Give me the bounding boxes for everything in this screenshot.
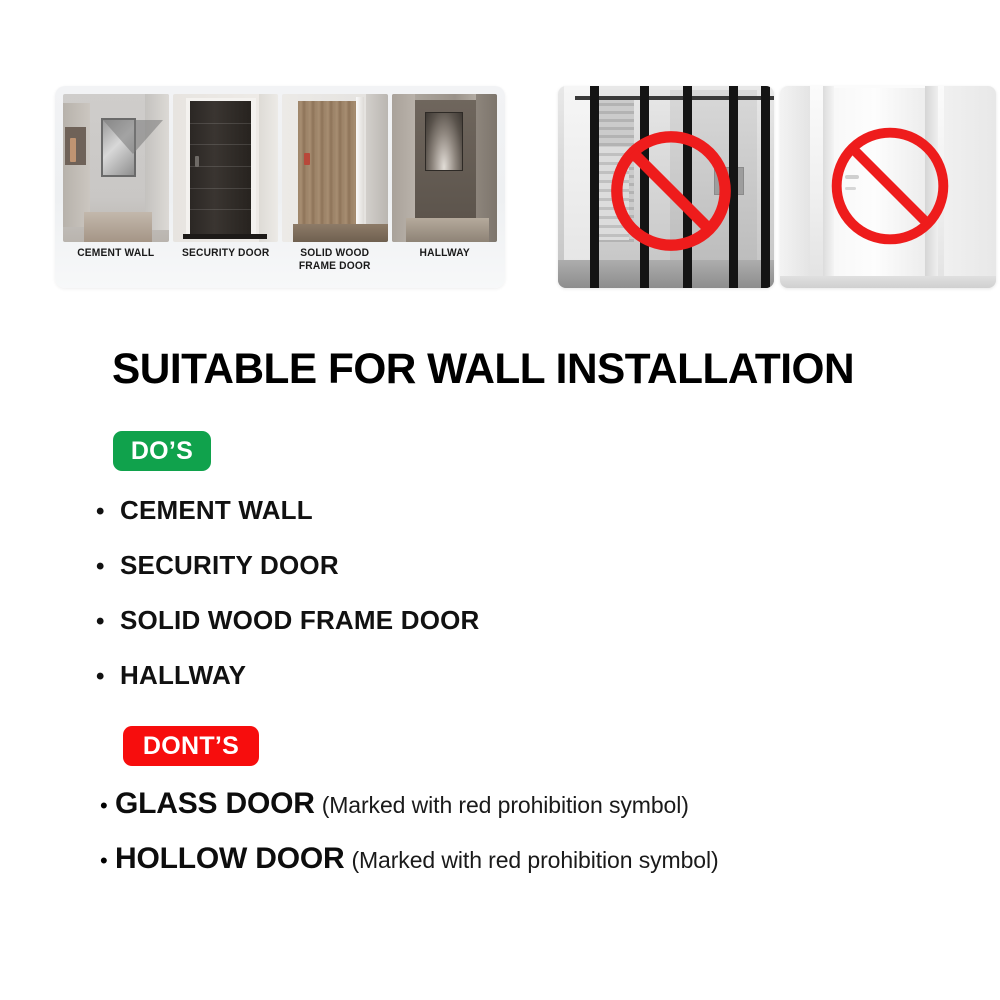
donts-badge: DONT’S bbox=[123, 726, 259, 766]
door-jamb-shape bbox=[356, 97, 364, 236]
vase-shape bbox=[70, 138, 75, 162]
dark-door-shape bbox=[190, 101, 250, 236]
bullet-icon: • bbox=[100, 790, 115, 822]
right-wall-shape bbox=[145, 94, 168, 230]
glass-door-dont-card bbox=[558, 86, 774, 288]
caption-line-2: FRAME DOOR bbox=[286, 260, 384, 273]
bullet-icon: • bbox=[96, 664, 120, 690]
list-item: •SECURITY DOOR bbox=[96, 550, 716, 581]
dos-item-label: CEMENT WALL bbox=[120, 495, 313, 525]
floor-shape bbox=[780, 276, 996, 288]
dos-item-label: SECURITY DOOR bbox=[120, 550, 339, 580]
caption-solid-wood-frame-door: SOLID WOOD FRAME DOOR bbox=[286, 246, 384, 286]
prohibition-symbol-icon bbox=[828, 124, 952, 248]
cement-wall-photo bbox=[63, 94, 169, 242]
dos-item-label: SOLID WOOD FRAME DOOR bbox=[120, 605, 480, 635]
left-wall-shape bbox=[780, 86, 810, 288]
list-item: •SOLID WOOD FRAME DOOR bbox=[96, 605, 716, 636]
hallway-photo bbox=[392, 94, 498, 242]
bullet-icon: • bbox=[96, 499, 120, 525]
caption-cement-wall: CEMENT WALL bbox=[67, 246, 165, 286]
dont-item-label: HOLLOW DOOR bbox=[115, 842, 344, 875]
product-compatibility-gallery: CEMENT WALL SECURITY DOOR SOLID WOOD FRA… bbox=[55, 86, 941, 288]
niche-shape bbox=[65, 127, 86, 165]
dos-caption-row: CEMENT WALL SECURITY DOOR SOLID WOOD FRA… bbox=[63, 246, 497, 286]
floor-shape bbox=[84, 212, 152, 242]
top-rail-shape bbox=[575, 96, 774, 100]
arch-artwork-shape bbox=[425, 112, 463, 171]
dos-thumbnail-row bbox=[63, 94, 497, 242]
dos-list: •CEMENT WALL •SECURITY DOOR •SOLID WOOD … bbox=[96, 495, 716, 715]
dont-item-note: (Marked with red prohibition symbol) bbox=[322, 792, 689, 818]
list-item: •GLASS DOOR(Marked with red prohibition … bbox=[100, 788, 930, 825]
caption-security-door: SECURITY DOOR bbox=[176, 246, 274, 286]
caption-line-1: SOLID WOOD bbox=[286, 247, 384, 260]
right-wall-shape bbox=[366, 94, 387, 242]
bullet-icon: • bbox=[96, 609, 120, 635]
list-item: •CEMENT WALL bbox=[96, 495, 716, 526]
wood-door-shape bbox=[298, 101, 356, 233]
page-title: SUITABLE FOR WALL INSTALLATION bbox=[112, 344, 920, 394]
framed-artwork-shape bbox=[101, 118, 136, 177]
donts-list: •GLASS DOOR(Marked with red prohibition … bbox=[100, 788, 930, 898]
bullet-icon: • bbox=[96, 554, 120, 580]
prohibition-symbol-icon bbox=[608, 128, 734, 254]
cabinet-shape bbox=[63, 103, 90, 227]
dos-photo-card: CEMENT WALL SECURITY DOOR SOLID WOOD FRA… bbox=[55, 86, 505, 288]
dos-badge: DO’S bbox=[113, 431, 211, 471]
hollow-door-dont-card bbox=[780, 86, 996, 288]
floor-shape bbox=[406, 218, 488, 242]
right-wall-shape bbox=[259, 94, 278, 242]
security-door-photo bbox=[173, 94, 279, 242]
bullet-icon: • bbox=[100, 845, 115, 877]
solid-wood-frame-door-photo bbox=[282, 94, 388, 242]
floor-line-shape bbox=[183, 234, 267, 239]
door-handle-shape bbox=[195, 156, 199, 167]
caption-hallway: HALLWAY bbox=[395, 246, 493, 286]
left-pane-shape bbox=[564, 86, 590, 288]
mullion-shape bbox=[590, 86, 599, 288]
list-item: •HALLWAY bbox=[96, 660, 716, 691]
door-lock-shape bbox=[304, 153, 310, 165]
dont-item-label: GLASS DOOR bbox=[115, 787, 315, 820]
floor-shape bbox=[293, 224, 388, 242]
mullion-shape bbox=[761, 86, 770, 288]
dont-item-note: (Marked with red prohibition symbol) bbox=[351, 847, 718, 873]
list-item: •HOLLOW DOOR(Marked with red prohibition… bbox=[100, 843, 930, 880]
dos-item-label: HALLWAY bbox=[120, 660, 246, 690]
